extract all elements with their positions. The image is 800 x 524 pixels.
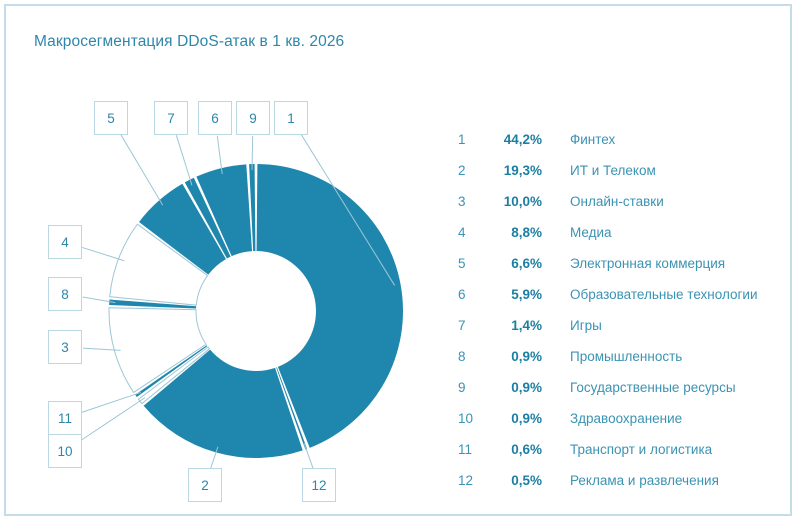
legend-row: 90,9%Государственные ресурсы (458, 372, 778, 403)
callout-6[interactable]: 6 (198, 101, 232, 135)
leader-line-10 (80, 398, 145, 441)
legend-percent: 0,6% (484, 442, 546, 457)
legend-percent: 44,2% (484, 132, 546, 147)
legend-percent: 6,6% (484, 256, 546, 271)
legend-percent: 0,9% (484, 349, 546, 364)
legend-index: 1 (458, 132, 484, 147)
legend-percent: 8,8% (484, 225, 546, 240)
leader-line-6 (217, 136, 222, 174)
legend-percent: 5,9% (484, 287, 546, 302)
legend-label: Онлайн-ставки (546, 194, 664, 209)
callout-1[interactable]: 1 (274, 101, 308, 135)
legend-index: 8 (458, 349, 484, 364)
legend: 144,2%Финтех219,3%ИТ и Телеком310,0%Онла… (458, 124, 778, 496)
leader-line-11 (82, 392, 141, 412)
legend-percent: 0,5% (484, 473, 546, 488)
legend-index: 12 (458, 473, 484, 488)
legend-label: Финтех (546, 132, 615, 147)
leader-line-12 (304, 444, 313, 469)
legend-percent: 1,4% (484, 318, 546, 333)
legend-label: Транспорт и логистика (546, 442, 712, 457)
legend-row: 80,9%Промышленность (458, 341, 778, 372)
callout-9[interactable]: 9 (236, 101, 270, 135)
callout-8[interactable]: 8 (48, 277, 82, 311)
callout-11[interactable]: 11 (48, 401, 82, 435)
legend-index: 11 (458, 442, 484, 457)
leader-line-5 (120, 133, 163, 205)
callout-7[interactable]: 7 (154, 101, 188, 135)
callout-2[interactable]: 2 (188, 468, 222, 502)
legend-percent: 0,9% (484, 411, 546, 426)
legend-row: 48,8%Медиа (458, 217, 778, 248)
legend-label: Электронная коммерция (546, 256, 725, 271)
leader-line-9 (252, 136, 253, 170)
callout-12[interactable]: 12 (302, 468, 336, 502)
legend-index: 3 (458, 194, 484, 209)
legend-index: 10 (458, 411, 484, 426)
chart-card: Макросегментация DDoS-атак в 1 кв. 2026 … (4, 4, 792, 516)
legend-row: 56,6%Электронная коммерция (458, 248, 778, 279)
legend-row: 144,2%Финтех (458, 124, 778, 155)
callout-5[interactable]: 5 (94, 101, 128, 135)
callout-4[interactable]: 4 (48, 225, 82, 259)
legend-row: 71,4%Игры (458, 310, 778, 341)
legend-percent: 19,3% (484, 163, 546, 178)
legend-row: 65,9%Образовательные технологии (458, 279, 778, 310)
leader-line-4 (82, 247, 124, 260)
legend-label: Медиа (546, 225, 612, 240)
legend-label: Игры (546, 318, 602, 333)
legend-label: Здравоохранение (546, 411, 682, 426)
legend-row: 100,9%Здравоохранение (458, 403, 778, 434)
legend-percent: 10,0% (484, 194, 546, 209)
legend-index: 2 (458, 163, 484, 178)
legend-percent: 0,9% (484, 380, 546, 395)
legend-label: Образовательные технологии (546, 287, 758, 302)
callout-3[interactable]: 3 (48, 330, 82, 364)
legend-index: 6 (458, 287, 484, 302)
legend-row: 310,0%Онлайн-ставки (458, 186, 778, 217)
callout-10[interactable]: 10 (48, 434, 82, 468)
legend-index: 5 (458, 256, 484, 271)
legend-index: 7 (458, 318, 484, 333)
legend-label: Государственные ресурсы (546, 380, 736, 395)
legend-index: 9 (458, 380, 484, 395)
legend-label: Реклама и развлечения (546, 473, 719, 488)
legend-row: 219,3%ИТ и Телеком (458, 155, 778, 186)
donut-chart: 123456789101112 (6, 6, 446, 518)
legend-label: Промышленность (546, 349, 682, 364)
legend-row: 110,6%Транспорт и логистика (458, 434, 778, 465)
leader-line-7 (176, 135, 192, 185)
legend-row: 120,5%Реклама и развлечения (458, 465, 778, 496)
legend-label: ИТ и Телеком (546, 163, 656, 178)
legend-index: 4 (458, 225, 484, 240)
